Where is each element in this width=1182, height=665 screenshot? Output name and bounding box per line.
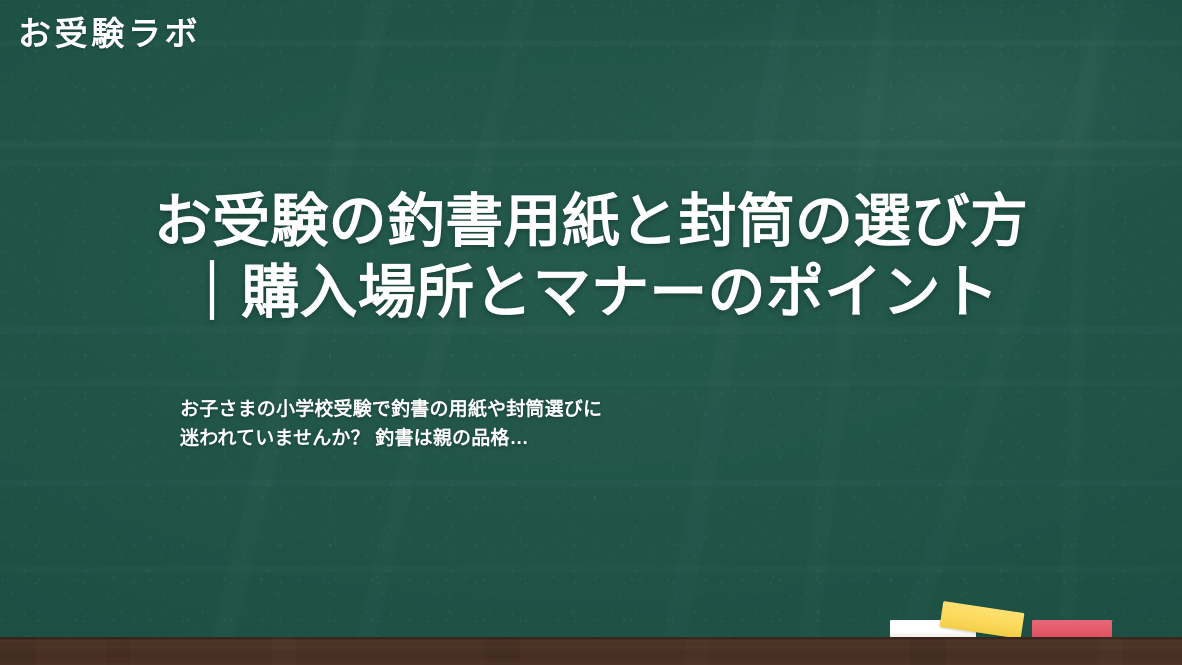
page-title: お受験の釣書用紙と封筒の選び方 ｜購入場所とマナーのポイント: [0, 186, 1182, 329]
chalkboard-slide: お受験ラボ お受験の釣書用紙と封筒の選び方 ｜購入場所とマナーのポイント お子さ…: [0, 0, 1182, 665]
site-logo[interactable]: お受験ラボ: [18, 13, 201, 54]
chalkboard-diagonal-smears: [0, 0, 1182, 665]
red-chalk-icon: [1032, 620, 1112, 638]
excerpt-block: お子さまの小学校受験で釣書の用紙や封筒選びに 迷われていませんか？ 釣書は親の品…: [180, 396, 940, 454]
excerpt-line-2: 迷われていませんか？ 釣書は親の品格…: [180, 425, 940, 454]
excerpt-line-1: お子さまの小学校受験で釣書の用紙や封筒選びに: [180, 396, 940, 425]
chalk-ledge-wood-grain: [0, 637, 1182, 665]
title-line-2: ｜購入場所とマナーのポイント: [40, 257, 1142, 328]
title-line-1: お受験の釣書用紙と封筒の選び方: [40, 186, 1142, 257]
chalk-ledge: [0, 637, 1182, 665]
